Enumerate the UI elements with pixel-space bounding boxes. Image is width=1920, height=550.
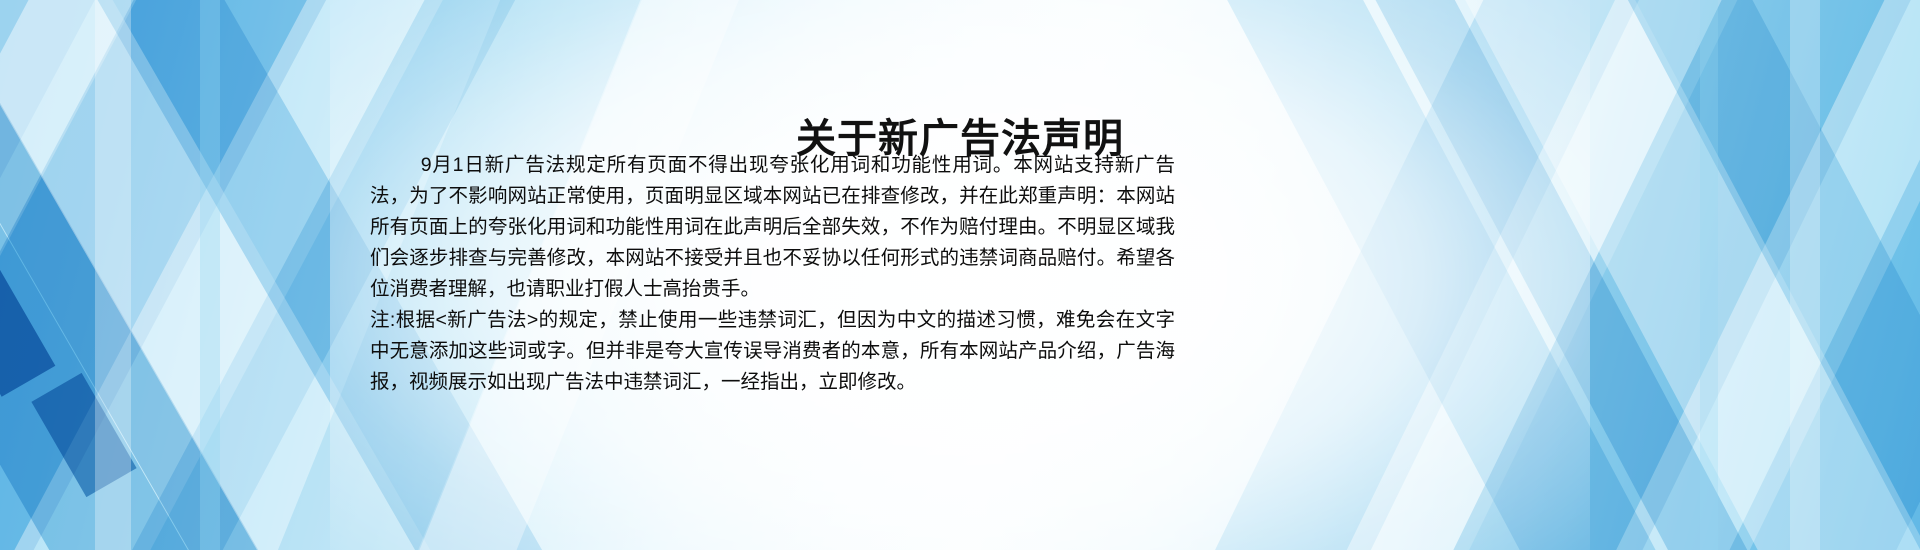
diagonal-band-right-3 — [1304, 0, 1920, 550]
diagonal-band-2 — [0, 0, 265, 550]
vertical-stripe-left-1 — [95, 0, 131, 550]
diagonal-band-1 — [0, 0, 216, 550]
statement-body: 9月1日新广告法规定所有页面不得出现夸张化用词和功能性用词。本网站支持新广告法，… — [370, 150, 1175, 398]
accent-diamond-1 — [0, 253, 55, 397]
diagonal-band-right-cross-2 — [1244, 0, 1916, 550]
advertising-law-statement-banner: 关于新广告法声明 9月1日新广告法规定所有页面不得出现夸张化用词和功能性用词。本… — [0, 0, 1920, 550]
vertical-stripe-right-1 — [1790, 0, 1820, 550]
statement-paragraph-1: 9月1日新广告法规定所有页面不得出现夸张化用词和功能性用词。本网站支持新广告法，… — [370, 150, 1175, 305]
accent-diamond-2 — [31, 373, 136, 497]
diagonal-band-right-2 — [1191, 0, 1860, 550]
vertical-stripe-left-2 — [200, 0, 220, 550]
diagonal-band-right-4 — [1461, 0, 1920, 550]
diagonal-band-right-cross-4 — [1501, 0, 1920, 550]
statement-paragraph-2: 注:根据<新广告法>的规定，禁止使用一些违禁词汇，但因为中文的描述习惯，难免会在… — [370, 305, 1175, 398]
diagonal-band-right-cross-3 — [1344, 0, 1920, 550]
diagonal-band-cross-5 — [0, 0, 159, 550]
diagonal-band-right-cross-1 — [1102, 0, 1818, 550]
diagonal-band-cross-1 — [0, 0, 357, 550]
vertical-stripe-right-2 — [1700, 0, 1718, 550]
diagonal-band-right-5 — [1578, 0, 1920, 550]
